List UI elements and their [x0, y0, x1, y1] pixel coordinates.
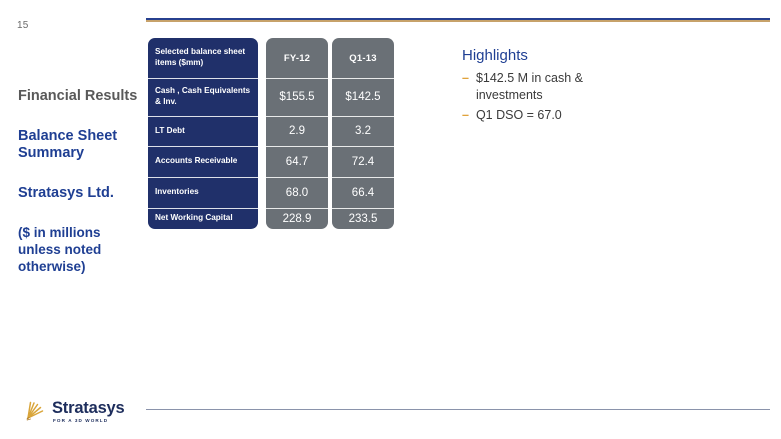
slide-canvas: 15 Financial Results Balance Sheet Summa…	[0, 0, 781, 439]
highlights-title: Highlights	[462, 47, 752, 64]
table-cell-q113: 72.4	[332, 146, 394, 177]
table-cell-fy12: 68.0	[266, 177, 328, 208]
bottom-divider-rule	[146, 409, 770, 410]
table-row-label: LT Debt	[148, 116, 258, 146]
table-header-fy12: FY-12	[266, 38, 328, 78]
table-row-label: Cash , Cash Equivalents & Inv.	[148, 78, 258, 116]
stratasys-logo: Stratasys FOR A 3D WORLD	[24, 396, 144, 428]
table-header-q113: Q1-13	[332, 38, 394, 78]
highlights-list: – $142.5 M in cash & investments – Q1 DS…	[462, 70, 752, 124]
table-cell-q113: $142.5	[332, 78, 394, 116]
sidebar: Financial Results Balance Sheet Summary …	[18, 88, 144, 275]
sidebar-slide-subtitle: Balance Sheet Summary	[18, 128, 144, 163]
sidebar-units-note: ($ in millions unless noted otherwise)	[18, 225, 144, 276]
logo-tagline: FOR A 3D WORLD	[53, 418, 108, 423]
table-cell-q113: 66.4	[332, 177, 394, 208]
table-cell-q113: 3.2	[332, 116, 394, 146]
table-cell-fy12: 64.7	[266, 146, 328, 177]
sidebar-section-title: Financial Results	[18, 88, 144, 106]
bullet-dash-icon: –	[462, 70, 469, 104]
table-cell-fy12: 228.9	[266, 208, 328, 229]
table-cell-fy12: 2.9	[266, 116, 328, 146]
stratasys-fan-mark-icon	[24, 398, 48, 422]
table-cell-q113: 233.5	[332, 208, 394, 229]
list-item: – Q1 DSO = 67.0	[462, 107, 752, 124]
table-header-label: Selected balance sheet items ($mm)	[148, 38, 258, 78]
table-row-label: Net Working Capital	[148, 208, 258, 229]
logo-wordmark: Stratasys	[52, 399, 125, 418]
balance-sheet-table: Selected balance sheet items ($mm) FY-12…	[148, 38, 390, 229]
table-row-label: Inventories	[148, 177, 258, 208]
page-number: 15	[17, 20, 29, 31]
top-divider-rule	[146, 18, 770, 22]
highlights-panel: Highlights – $142.5 M in cash & investme…	[462, 47, 752, 127]
list-item: – $142.5 M in cash & investments	[462, 70, 752, 104]
highlight-text: $142.5 M in cash & investments	[476, 70, 616, 104]
bullet-dash-icon: –	[462, 107, 469, 124]
highlight-text: Q1 DSO = 67.0	[476, 107, 562, 124]
sidebar-company-name: Stratasys Ltd.	[18, 185, 144, 203]
table-cell-fy12: $155.5	[266, 78, 328, 116]
top-rule-gold-line	[146, 20, 770, 22]
table-row-label: Accounts Receivable	[148, 146, 258, 177]
